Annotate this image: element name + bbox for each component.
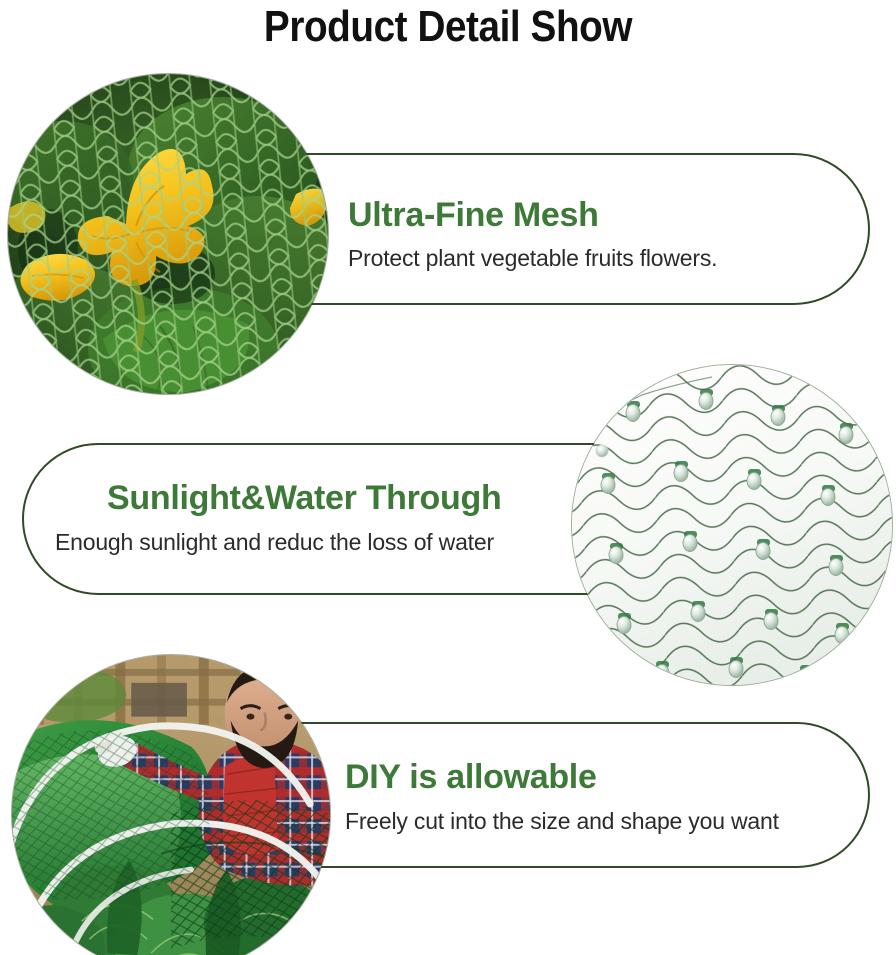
feature-heading-diy-is-allowable: DIY is allowable [345,757,597,797]
feature-heading-sunlight-water-through: Sunlight&Water Through [107,478,501,518]
feature-subtext-diy-is-allowable: Freely cut into the size and shape you w… [345,806,779,836]
page-title: Product Detail Show [54,0,842,54]
yellow-squash-flower-under-green-mesh-photo [8,74,328,394]
feature-image-ultra-fine-mesh [8,74,328,394]
feature-image-sunlight-water-through [572,365,892,685]
product-detail-infographic: Product Detail Show [0,0,896,955]
feature-image-diy-is-allowable [12,655,330,955]
mesh-net-with-water-droplets-photo [572,365,892,685]
gardener-covering-cabbage-bed-with-net-photo [12,655,330,955]
feature-subtext-sunlight-water-through: Enough sunlight and reduc the loss of wa… [55,527,494,557]
feature-heading-ultra-fine-mesh: Ultra-Fine Mesh [348,195,599,235]
feature-subtext-ultra-fine-mesh: Protect plant vegetable fruits flowers. [348,243,717,273]
